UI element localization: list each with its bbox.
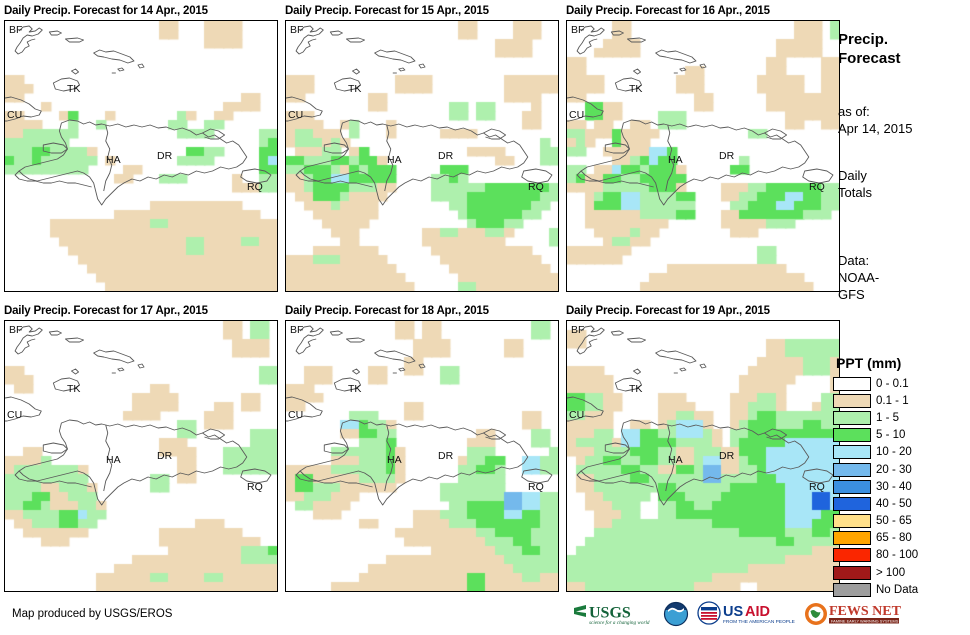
svg-text:science for a changing world: science for a changing world bbox=[589, 619, 650, 626]
data-source-block: Data: NOAA- GFS bbox=[838, 252, 879, 303]
noaa-logo bbox=[662, 600, 690, 628]
legend-row: 80 - 100 bbox=[833, 547, 968, 564]
legend-row: 5 - 10 bbox=[833, 427, 968, 444]
legend-label: 80 - 100 bbox=[876, 549, 918, 561]
legend-label: 30 - 40 bbox=[876, 481, 912, 493]
side-panel-title: Precip. Forecast bbox=[838, 30, 901, 68]
legend-label: 0 - 0.1 bbox=[876, 378, 909, 390]
map-panel: Daily Precip. Forecast for 14 Apr., 2015… bbox=[4, 3, 208, 19]
map-credit: Map produced by USGS/EROS bbox=[12, 608, 172, 620]
legend-row: 1 - 5 bbox=[833, 409, 968, 426]
legend-row: 0 - 0.1 bbox=[833, 375, 968, 392]
legend: PPT (mm) 0 - 0.10.1 - 11 - 55 - 1010 - 2… bbox=[833, 355, 968, 598]
coastline-overlay bbox=[5, 321, 277, 591]
legend-row: 0.1 - 1 bbox=[833, 392, 968, 409]
map-frame[interactable]: BFTKCUHADRRQ bbox=[566, 320, 840, 592]
map-panel-title: Daily Precip. Forecast for 19 Apr., 2015 bbox=[566, 303, 770, 319]
usaid-logo: US AID FROM THE AMERICAN PEOPLE bbox=[696, 600, 798, 628]
legend-swatch bbox=[833, 394, 871, 408]
legend-swatch bbox=[833, 428, 871, 442]
map-panel: Daily Precip. Forecast for 18 Apr., 2015… bbox=[285, 303, 489, 319]
legend-swatch bbox=[833, 514, 871, 528]
fews-net-logo: FEWS NET FAMINE EARLY WARNING SYSTEMS NE… bbox=[804, 600, 902, 628]
legend-title: PPT (mm) bbox=[833, 355, 968, 371]
svg-text:FAMINE EARLY WARNING SYSTEMS N: FAMINE EARLY WARNING SYSTEMS NETWORK bbox=[831, 618, 902, 623]
legend-label: > 100 bbox=[876, 567, 905, 579]
legend-rows: 0 - 0.10.1 - 11 - 55 - 1010 - 2020 - 303… bbox=[833, 375, 968, 598]
legend-label: No Data bbox=[876, 584, 918, 596]
daily-totals-block: Daily Totals bbox=[838, 167, 872, 201]
legend-label: 20 - 30 bbox=[876, 464, 912, 476]
data-source-line2: GFS bbox=[838, 286, 879, 303]
coastline-overlay bbox=[5, 21, 277, 291]
legend-label: 50 - 65 bbox=[876, 515, 912, 527]
legend-label: 10 - 20 bbox=[876, 446, 912, 458]
legend-row: 20 - 30 bbox=[833, 461, 968, 478]
legend-swatch bbox=[833, 411, 871, 425]
side-title-line1: Precip. bbox=[838, 30, 901, 49]
map-panel: Daily Precip. Forecast for 15 Apr., 2015… bbox=[285, 3, 489, 19]
legend-swatch bbox=[833, 445, 871, 459]
legend-row: 65 - 80 bbox=[833, 530, 968, 547]
legend-swatch bbox=[833, 480, 871, 494]
map-panel: Daily Precip. Forecast for 17 Apr., 2015… bbox=[4, 303, 208, 319]
legend-swatch bbox=[833, 548, 871, 562]
legend-row: 10 - 20 bbox=[833, 444, 968, 461]
data-source-line1: NOAA- bbox=[838, 269, 879, 286]
map-panel-title: Daily Precip. Forecast for 18 Apr., 2015 bbox=[285, 303, 489, 319]
map-panel: Daily Precip. Forecast for 19 Apr., 2015… bbox=[566, 303, 770, 319]
legend-swatch bbox=[833, 377, 871, 391]
as-of-block: as of: Apr 14, 2015 bbox=[838, 103, 912, 137]
legend-swatch bbox=[833, 583, 871, 597]
map-frame[interactable]: BFTKCUHADRRQ bbox=[566, 20, 840, 292]
map-panel-title: Daily Precip. Forecast for 17 Apr., 2015 bbox=[4, 303, 208, 319]
legend-label: 0.1 - 1 bbox=[876, 395, 909, 407]
map-panel: Daily Precip. Forecast for 16 Apr., 2015… bbox=[566, 3, 770, 19]
legend-swatch bbox=[833, 531, 871, 545]
map-panel-title: Daily Precip. Forecast for 14 Apr., 2015 bbox=[4, 3, 208, 19]
legend-row: > 100 bbox=[833, 564, 968, 581]
daily-totals-line2: Totals bbox=[838, 184, 872, 201]
legend-label: 5 - 10 bbox=[876, 429, 905, 441]
map-frame[interactable]: BFTKCUHADRRQ bbox=[285, 320, 559, 592]
map-frame[interactable]: BFTKCUHADRRQ bbox=[4, 320, 278, 592]
legend-label: 40 - 50 bbox=[876, 498, 912, 510]
coastline-overlay bbox=[286, 21, 558, 291]
svg-text:US: US bbox=[723, 604, 743, 620]
coastline-overlay bbox=[567, 21, 839, 291]
logo-strip: USGS science for a changing world US AID… bbox=[572, 600, 902, 628]
daily-totals-line1: Daily bbox=[838, 167, 872, 184]
legend-row: No Data bbox=[833, 581, 968, 598]
legend-label: 1 - 5 bbox=[876, 412, 899, 424]
map-frame[interactable]: BFTKCUHADRRQ bbox=[4, 20, 278, 292]
side-title-line2: Forecast bbox=[838, 49, 901, 68]
svg-text:AID: AID bbox=[745, 604, 770, 620]
as-of-date: Apr 14, 2015 bbox=[838, 120, 912, 137]
legend-swatch bbox=[833, 463, 871, 477]
svg-text:FROM THE AMERICAN PEOPLE: FROM THE AMERICAN PEOPLE bbox=[723, 619, 795, 625]
coastline-overlay bbox=[286, 321, 558, 591]
svg-text:USGS: USGS bbox=[589, 605, 631, 622]
svg-text:FEWS NET: FEWS NET bbox=[829, 604, 902, 619]
legend-label: 65 - 80 bbox=[876, 532, 912, 544]
map-frame[interactable]: BFTKCUHADRRQ bbox=[285, 20, 559, 292]
map-panel-title: Daily Precip. Forecast for 15 Apr., 2015 bbox=[285, 3, 489, 19]
legend-swatch bbox=[833, 497, 871, 511]
map-panel-title: Daily Precip. Forecast for 16 Apr., 2015 bbox=[566, 3, 770, 19]
data-label: Data: bbox=[838, 252, 879, 269]
legend-row: 30 - 40 bbox=[833, 478, 968, 495]
usgs-logo: USGS science for a changing world bbox=[572, 600, 656, 628]
as-of-label: as of: bbox=[838, 103, 912, 120]
coastline-overlay bbox=[567, 321, 839, 591]
legend-row: 40 - 50 bbox=[833, 495, 968, 512]
legend-row: 50 - 65 bbox=[833, 513, 968, 530]
legend-swatch bbox=[833, 566, 871, 580]
